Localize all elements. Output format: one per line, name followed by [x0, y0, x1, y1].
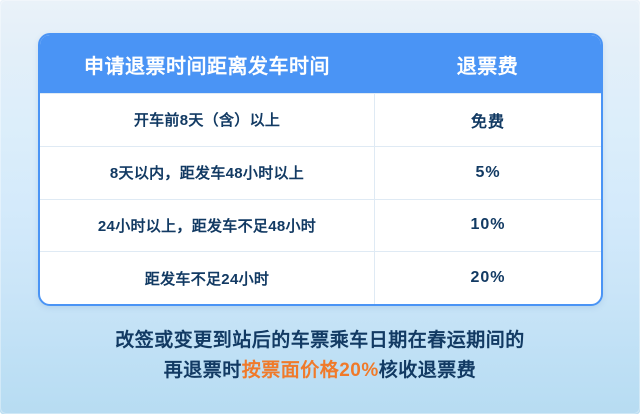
table-row: 24小时以上，距发车不足48小时 10%: [40, 199, 601, 252]
refund-fee-table: 申请退票时间距离发车时间 退票费 开车前8天（含）以上 免费 8天以内，距发车4…: [40, 35, 601, 304]
table-row: 距发车不足24小时 20%: [40, 251, 601, 304]
page-root: 申请退票时间距离发车时间 退票费 开车前8天（含）以上 免费 8天以内，距发车4…: [0, 0, 640, 414]
refund-fee-table-card: 申请退票时间距离发车时间 退票费 开车前8天（含）以上 免费 8天以内，距发车4…: [38, 33, 603, 306]
table-cell-condition: 开车前8天（含）以上: [40, 94, 374, 146]
table-cell-condition: 距发车不足24小时: [40, 252, 374, 304]
table-cell-condition: 8天以内，距发车48小时以上: [40, 147, 374, 199]
table-row: 开车前8天（含）以上 免费: [40, 93, 601, 146]
table-cell-fee: 10%: [374, 200, 601, 252]
table-cell-condition: 24小时以上，距发车不足48小时: [40, 200, 374, 252]
footer-note-highlight: 按票面价格20%: [242, 360, 379, 381]
footer-note-prefix: 再退票时: [164, 360, 242, 381]
table-row: 8天以内，距发车48小时以上 5%: [40, 146, 601, 199]
table-cell-fee: 免费: [374, 94, 601, 146]
footer-note-suffix: 核收退票费: [379, 360, 477, 381]
table-cell-fee: 5%: [374, 147, 601, 199]
table-header-condition: 申请退票时间距离发车时间: [40, 35, 374, 93]
footer-note-line-2: 再退票时按票面价格20%核收退票费: [0, 356, 640, 386]
footer-note: 改签或变更到站后的车票乘车日期在春运期间的 再退票时按票面价格20%核收退票费: [0, 326, 640, 386]
table-header-fee: 退票费: [374, 35, 601, 93]
footer-note-line-1: 改签或变更到站后的车票乘车日期在春运期间的: [0, 326, 640, 356]
table-cell-fee: 20%: [374, 252, 601, 304]
table-header-row: 申请退票时间距离发车时间 退票费: [40, 35, 601, 93]
